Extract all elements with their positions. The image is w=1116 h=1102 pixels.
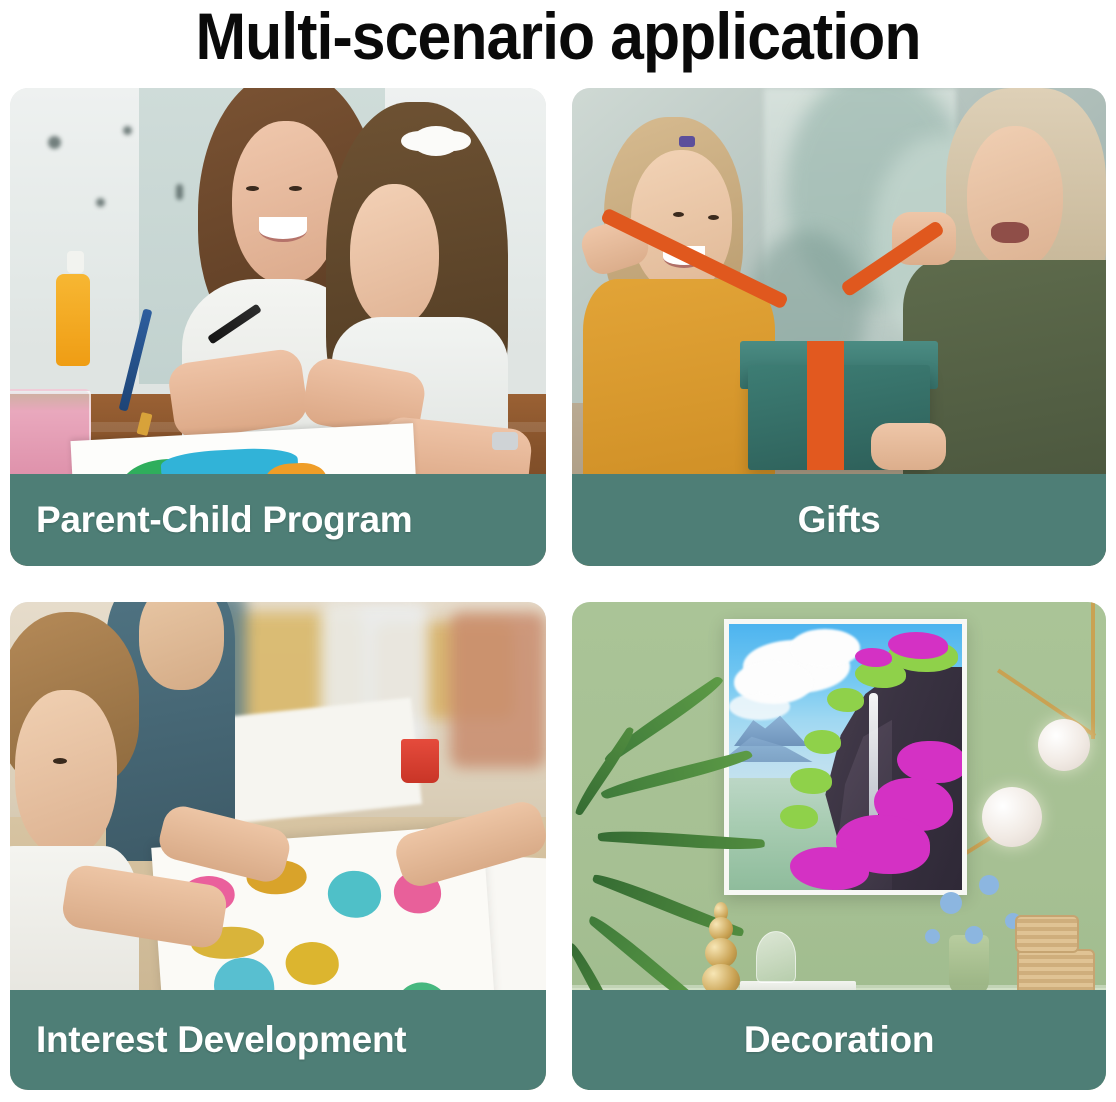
- scenario-caption-parent-child-program: Parent-Child Program: [10, 474, 546, 566]
- gourd-sculpture-icon: [700, 902, 740, 992]
- scenario-caption-interest-development: Interest Development: [10, 990, 546, 1090]
- woven-basket-icon: [1015, 915, 1079, 953]
- scenario-label: Decoration: [744, 1019, 934, 1061]
- scenario-label: Parent-Child Program: [36, 499, 412, 541]
- scenario-caption-decoration: Decoration: [572, 990, 1106, 1090]
- scenario-label: Gifts: [798, 499, 881, 541]
- scenario-grid: Parent-Child Program: [0, 86, 1116, 1102]
- scenario-card-decoration[interactable]: Decoration: [572, 602, 1106, 1090]
- flower-vase-icon: [949, 935, 989, 997]
- globe-lamp-icon: [1038, 719, 1090, 771]
- scenario-card-parent-child-program[interactable]: Parent-Child Program: [10, 88, 546, 566]
- framed-artwork: [724, 619, 967, 895]
- scenario-card-interest-development[interactable]: Interest Development: [10, 602, 546, 1090]
- scenario-caption-gifts: Gifts: [572, 474, 1106, 566]
- glass-dome-icon: [756, 931, 796, 983]
- globe-lamp-icon: [982, 787, 1042, 847]
- scenario-label: Interest Development: [36, 1019, 406, 1061]
- page-title: Multi-scenario application: [45, 0, 1072, 78]
- scenario-card-gifts[interactable]: Gifts: [572, 88, 1106, 566]
